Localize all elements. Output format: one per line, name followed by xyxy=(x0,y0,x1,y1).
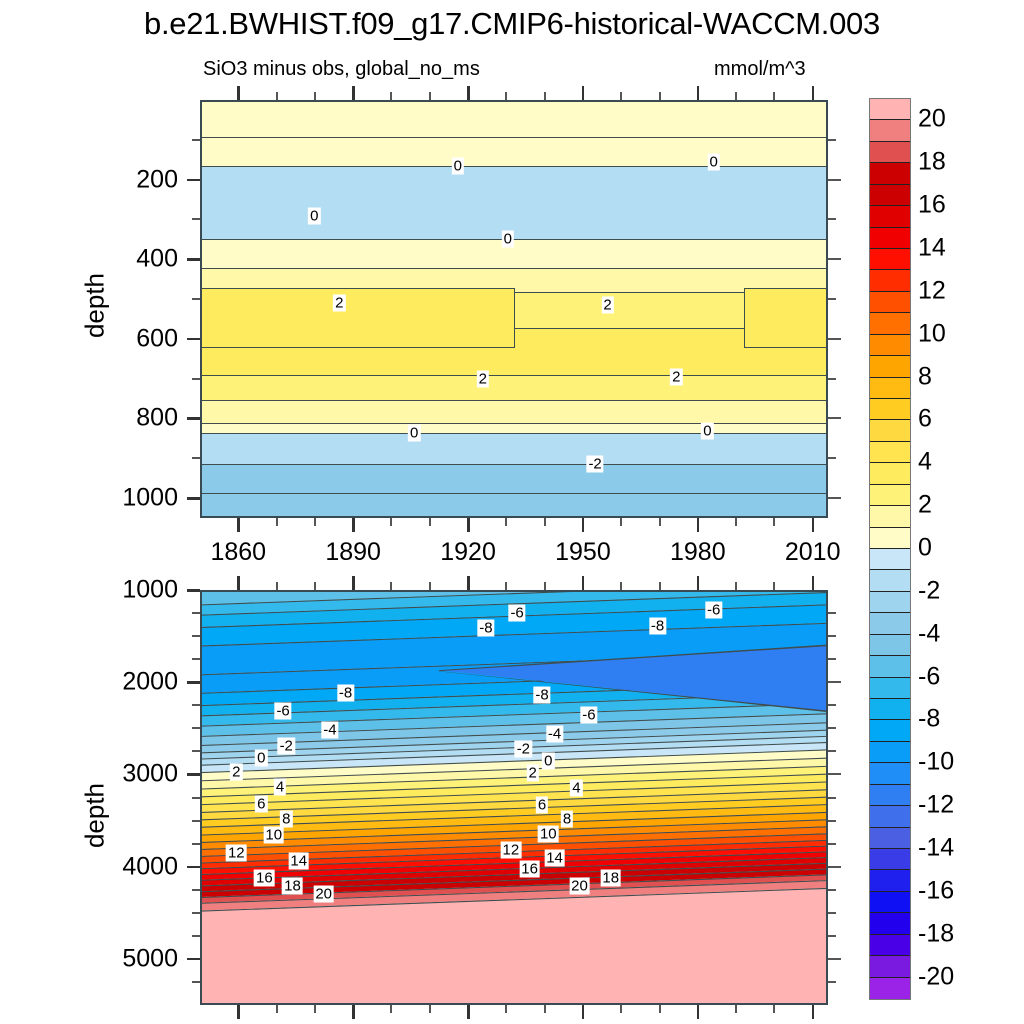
colorbar-band xyxy=(870,228,910,249)
colorbar-tick-label: 10 xyxy=(918,319,946,348)
y-tick-minor xyxy=(192,843,200,845)
colorbar-band xyxy=(870,678,910,699)
contour-label: 20 xyxy=(569,877,590,894)
x-tick-minor-bottom xyxy=(620,1005,622,1013)
colorbar-band xyxy=(870,442,910,463)
colorbar-tick-label: -6 xyxy=(918,662,940,691)
x-tick-minor-top xyxy=(773,92,775,100)
contour-label: -6 xyxy=(580,707,597,724)
y-tick-minor xyxy=(192,750,200,752)
colorbar-tick-label: -8 xyxy=(918,705,940,734)
contour-band xyxy=(202,400,826,423)
x-tick-major-top xyxy=(697,576,700,590)
contour-label: 18 xyxy=(282,877,303,894)
y-tick-minor-right xyxy=(828,820,836,822)
x-tick-label: 1890 xyxy=(325,538,381,567)
colorbar-band xyxy=(870,978,910,999)
y-tick-minor-right xyxy=(828,338,841,340)
x-tick-major-top xyxy=(467,576,470,590)
x-tick-minor xyxy=(314,518,316,526)
colorbar-band xyxy=(870,892,910,913)
x-tick-minor-bottom xyxy=(735,1005,737,1013)
colorbar[interactable] xyxy=(869,98,911,1000)
x-tick-minor-top xyxy=(735,582,737,590)
colorbar-band xyxy=(870,720,910,741)
contour-label: 0 xyxy=(308,207,320,224)
y-tick-minor xyxy=(192,889,200,891)
colorbar-band xyxy=(870,399,910,420)
contour-band xyxy=(202,239,826,268)
contour-label: 8 xyxy=(280,811,292,828)
colorbar-band xyxy=(870,656,910,677)
y-tick-minor xyxy=(192,912,200,914)
y-tick-minor xyxy=(192,704,200,706)
contour-line xyxy=(202,423,826,424)
y-tick-minor-right xyxy=(828,935,836,937)
contour-band xyxy=(202,423,826,433)
contour-line xyxy=(202,166,826,167)
x-tick-major xyxy=(582,518,585,532)
contour-label: 16 xyxy=(519,861,540,878)
colorbar-band xyxy=(870,570,910,591)
contour-label: 2 xyxy=(670,369,682,386)
x-tick-label: 1980 xyxy=(670,538,726,567)
y-tick-minor-right xyxy=(828,797,836,799)
contour-band xyxy=(202,166,826,238)
colorbar-tick-label: -2 xyxy=(918,576,940,605)
contour-label: 16 xyxy=(254,869,275,886)
contour-label: 2 xyxy=(527,764,539,781)
y-tick-minor xyxy=(192,612,200,614)
contour-label: -8 xyxy=(533,686,550,703)
y-tick-minor-right xyxy=(828,497,841,499)
colorbar-band xyxy=(870,356,910,377)
y-tick-minor-right xyxy=(828,612,836,614)
contour-label: -6 xyxy=(705,602,722,619)
x-tick-major-top xyxy=(582,86,585,100)
plot-units-label: mmol/m^3 xyxy=(714,58,806,81)
colorbar-band xyxy=(870,142,910,163)
colorbar-band xyxy=(870,120,910,141)
deep-ocean-contour-panel: -6-6-8-8-8-8-6-6-4-4-2-20022446688101012… xyxy=(200,590,828,1005)
y-tick-minor-right xyxy=(828,258,841,260)
y-tick-major xyxy=(187,497,200,500)
y-tick-minor xyxy=(192,457,200,459)
colorbar-band xyxy=(870,420,910,441)
x-tick-major xyxy=(352,518,355,532)
colorbar-band xyxy=(870,249,910,270)
contour-label: 4 xyxy=(274,779,286,796)
x-tick-label: 1920 xyxy=(440,538,496,567)
x-tick-major-bottom xyxy=(582,1005,585,1019)
contour-label: -8 xyxy=(477,619,494,636)
contour-line xyxy=(202,433,826,434)
contour-label: -4 xyxy=(546,725,563,742)
contour-band xyxy=(202,375,826,400)
x-tick-minor-top xyxy=(390,582,392,590)
colorbar-band xyxy=(870,99,910,120)
x-tick-minor-top xyxy=(429,582,431,590)
x-tick-minor-top xyxy=(773,582,775,590)
colorbar-band xyxy=(870,270,910,291)
contour-band xyxy=(744,288,826,348)
y-tick-major xyxy=(187,338,200,341)
colorbar-band xyxy=(870,828,910,849)
plot-subtitle: SiO3 minus obs, global_no_ms xyxy=(203,58,480,81)
colorbar-band xyxy=(870,870,910,891)
y-tick-major xyxy=(187,589,200,592)
contour-label: 6 xyxy=(536,796,548,813)
y-tick-minor xyxy=(192,139,200,141)
x-tick-minor-top xyxy=(505,582,507,590)
x-tick-major-top xyxy=(467,86,470,100)
colorbar-tick-label: -20 xyxy=(918,962,954,991)
y-tick-major xyxy=(187,258,200,261)
x-tick-minor-top xyxy=(620,92,622,100)
colorbar-tick-label: 2 xyxy=(918,491,932,520)
x-tick-label: 1860 xyxy=(210,538,266,567)
contour-line xyxy=(202,493,826,494)
colorbar-band xyxy=(870,763,910,784)
y-tick-minor-right xyxy=(828,417,841,419)
x-tick-major xyxy=(237,518,240,532)
y-tick-major xyxy=(187,773,200,776)
x-tick-minor-bottom xyxy=(773,1005,775,1013)
x-tick-major xyxy=(812,518,815,532)
y-tick-minor xyxy=(192,658,200,660)
contour-label: -2 xyxy=(278,738,295,755)
colorbar-tick-label: 18 xyxy=(918,148,946,177)
x-tick-minor-bottom xyxy=(429,1005,431,1013)
x-tick-minor-top xyxy=(544,92,546,100)
y-tick-label: 2000 xyxy=(58,668,178,697)
contour-label: 12 xyxy=(501,842,522,859)
y-tick-minor-right xyxy=(828,378,836,380)
x-tick-minor xyxy=(773,518,775,526)
x-tick-minor-bottom xyxy=(314,1005,316,1013)
contour-label: -6 xyxy=(274,703,291,720)
x-tick-minor xyxy=(659,518,661,526)
colorbar-tick-label: -10 xyxy=(918,748,954,777)
contour-label: -2 xyxy=(515,741,532,758)
x-tick-minor xyxy=(544,518,546,526)
y-tick-minor-right xyxy=(828,218,836,220)
y-tick-label: 1000 xyxy=(58,576,178,605)
contour-label: 2 xyxy=(601,296,613,313)
colorbar-band xyxy=(870,463,910,484)
colorbar-tick-label: 8 xyxy=(918,362,932,391)
y-tick-label: 400 xyxy=(78,245,178,274)
x-tick-major-top xyxy=(812,576,815,590)
colorbar-band xyxy=(870,528,910,549)
x-tick-minor-top xyxy=(276,582,278,590)
contour-line xyxy=(202,464,826,465)
y-tick-major xyxy=(187,681,200,684)
colorbar-band xyxy=(870,613,910,634)
y-tick-minor-right xyxy=(828,727,836,729)
x-tick-label: 1950 xyxy=(555,538,611,567)
x-tick-minor-top xyxy=(429,92,431,100)
upper-ocean-contour-panel: 0000222200-2 xyxy=(200,100,828,518)
contour-band xyxy=(202,464,826,516)
y-tick-minor xyxy=(192,298,200,300)
y-tick-minor-right xyxy=(828,866,841,868)
y-tick-minor-right xyxy=(828,889,836,891)
y-tick-minor-right xyxy=(828,681,841,683)
y-tick-label: 600 xyxy=(78,324,178,353)
contour-label: 0 xyxy=(452,158,464,175)
x-tick-major-bottom xyxy=(352,1005,355,1019)
x-tick-minor-bottom xyxy=(544,1005,546,1013)
contour-label: 10 xyxy=(263,827,284,844)
colorbar-tick-label: 16 xyxy=(918,191,946,220)
colorbar-band xyxy=(870,956,910,977)
y-tick-minor-right xyxy=(828,704,836,706)
y-tick-minor-right xyxy=(828,635,836,637)
y-tick-minor xyxy=(192,378,200,380)
x-tick-minor-top xyxy=(314,582,316,590)
x-tick-label: 2010 xyxy=(785,538,841,567)
colorbar-band xyxy=(870,849,910,870)
y-tick-label: 3000 xyxy=(58,760,178,789)
y-tick-major xyxy=(187,417,200,420)
y-tick-major xyxy=(187,958,200,961)
colorbar-band xyxy=(870,335,910,356)
y-tick-minor-right xyxy=(828,981,836,983)
x-tick-minor-top xyxy=(659,582,661,590)
y-tick-label: 5000 xyxy=(58,944,178,973)
colorbar-band xyxy=(870,549,910,570)
contour-label: -8 xyxy=(649,617,666,634)
x-tick-minor xyxy=(735,518,737,526)
x-tick-major-top xyxy=(352,86,355,100)
x-tick-minor-top xyxy=(544,582,546,590)
contour-label: -2 xyxy=(586,456,603,473)
x-tick-major xyxy=(697,518,700,532)
contour-label: 0 xyxy=(502,230,514,247)
y-tick-minor xyxy=(192,635,200,637)
x-tick-minor-top xyxy=(735,92,737,100)
colorbar-tick-label: 4 xyxy=(918,448,932,477)
x-tick-minor xyxy=(620,518,622,526)
x-tick-minor xyxy=(505,518,507,526)
contour-label: 0 xyxy=(708,154,720,171)
x-tick-major-bottom xyxy=(812,1005,815,1019)
colorbar-tick-label: -4 xyxy=(918,619,940,648)
contour-line xyxy=(202,400,826,401)
colorbar-band xyxy=(870,592,910,613)
colorbar-tick-label: -12 xyxy=(918,791,954,820)
contour-label: 2 xyxy=(230,764,242,781)
y-tick-minor-right xyxy=(828,750,836,752)
x-tick-minor-bottom xyxy=(505,1005,507,1013)
y-tick-minor-right xyxy=(828,912,836,914)
colorbar-band xyxy=(870,785,910,806)
contour-label: 2 xyxy=(333,294,345,311)
contour-label: 8 xyxy=(561,810,573,827)
x-tick-major xyxy=(467,518,470,532)
y-tick-major xyxy=(187,179,200,182)
contour-label: 2 xyxy=(477,371,489,388)
y-tick-minor-right xyxy=(828,298,836,300)
contour-label: 10 xyxy=(538,826,559,843)
colorbar-band xyxy=(870,635,910,656)
y-tick-minor-right xyxy=(828,457,836,459)
y-tick-label: 200 xyxy=(78,165,178,194)
x-tick-minor xyxy=(390,518,392,526)
contour-label: 0 xyxy=(408,425,420,442)
x-tick-minor-top xyxy=(505,92,507,100)
y-tick-minor-right xyxy=(828,179,841,181)
colorbar-band xyxy=(870,506,910,527)
contour-label: 0 xyxy=(255,750,267,767)
y-tick-minor xyxy=(192,218,200,220)
colorbar-tick-label: -18 xyxy=(918,919,954,948)
contour-label: 14 xyxy=(288,853,309,870)
contour-band xyxy=(202,102,826,137)
x-tick-major-top xyxy=(697,86,700,100)
contour-label: 18 xyxy=(600,869,621,886)
y-tick-label: 800 xyxy=(78,404,178,433)
colorbar-band xyxy=(870,313,910,334)
y-tick-label: 4000 xyxy=(58,852,178,881)
contour-label: 0 xyxy=(542,752,554,769)
y-tick-major xyxy=(187,866,200,869)
colorbar-band xyxy=(870,292,910,313)
x-tick-major-top xyxy=(237,86,240,100)
contour-label: 12 xyxy=(226,844,247,861)
y-tick-minor xyxy=(192,797,200,799)
x-tick-major-top xyxy=(352,576,355,590)
contour-label: -4 xyxy=(321,721,338,738)
y-tick-minor xyxy=(192,727,200,729)
x-tick-major-bottom xyxy=(467,1005,470,1019)
x-tick-major-bottom xyxy=(237,1005,240,1019)
contour-band xyxy=(202,433,826,464)
colorbar-tick-label: 20 xyxy=(918,105,946,134)
colorbar-band xyxy=(870,699,910,720)
colorbar-band xyxy=(870,206,910,227)
y-tick-minor-right xyxy=(828,958,841,960)
page-title: b.e21.BWHIST.f09_g17.CMIP6-historical-WA… xyxy=(0,6,1024,42)
y-tick-label: 1000 xyxy=(78,484,178,513)
y-tick-minor-right xyxy=(828,139,836,141)
colorbar-tick-label: -14 xyxy=(918,834,954,863)
x-tick-major-top xyxy=(237,576,240,590)
y-tick-minor-right xyxy=(828,773,841,775)
x-tick-minor-top xyxy=(276,92,278,100)
contour-label: 20 xyxy=(313,886,334,903)
colorbar-band xyxy=(870,378,910,399)
x-tick-major-top xyxy=(812,86,815,100)
contour-line xyxy=(202,375,826,376)
colorbar-band xyxy=(870,806,910,827)
colorbar-tick-label: -16 xyxy=(918,876,954,905)
colorbar-band xyxy=(870,913,910,934)
contour-label: 6 xyxy=(255,795,267,812)
x-tick-minor-top xyxy=(314,92,316,100)
colorbar-tick-label: 14 xyxy=(918,234,946,263)
y-tick-minor-right xyxy=(828,843,836,845)
contour-line xyxy=(202,239,826,240)
contour-band xyxy=(202,137,826,166)
x-tick-minor-top xyxy=(620,582,622,590)
colorbar-tick-label: 12 xyxy=(918,276,946,305)
colorbar-band xyxy=(870,185,910,206)
y-tick-minor xyxy=(192,981,200,983)
x-tick-minor-top xyxy=(659,92,661,100)
contour-label: -6 xyxy=(508,605,525,622)
x-tick-minor-bottom xyxy=(659,1005,661,1013)
y-tick-minor xyxy=(192,935,200,937)
colorbar-band xyxy=(870,742,910,763)
colorbar-tick-label: 0 xyxy=(918,534,932,563)
contour-label: -8 xyxy=(337,684,354,701)
x-tick-minor xyxy=(276,518,278,526)
x-tick-minor-top xyxy=(390,92,392,100)
x-tick-minor-bottom xyxy=(390,1005,392,1013)
x-tick-minor xyxy=(429,518,431,526)
contour-label: 0 xyxy=(701,423,713,440)
contour-label: 4 xyxy=(570,780,582,797)
colorbar-band xyxy=(870,163,910,184)
contour-label: 14 xyxy=(544,850,565,867)
contour-line xyxy=(202,268,826,269)
x-tick-major-bottom xyxy=(697,1005,700,1019)
x-tick-minor-bottom xyxy=(276,1005,278,1013)
contour-line xyxy=(202,137,826,138)
contour-band xyxy=(202,288,515,348)
colorbar-band xyxy=(870,935,910,956)
y-tick-minor-right xyxy=(828,658,836,660)
y-tick-minor xyxy=(192,820,200,822)
colorbar-tick-label: 6 xyxy=(918,405,932,434)
x-tick-major-top xyxy=(582,576,585,590)
colorbar-band xyxy=(870,485,910,506)
